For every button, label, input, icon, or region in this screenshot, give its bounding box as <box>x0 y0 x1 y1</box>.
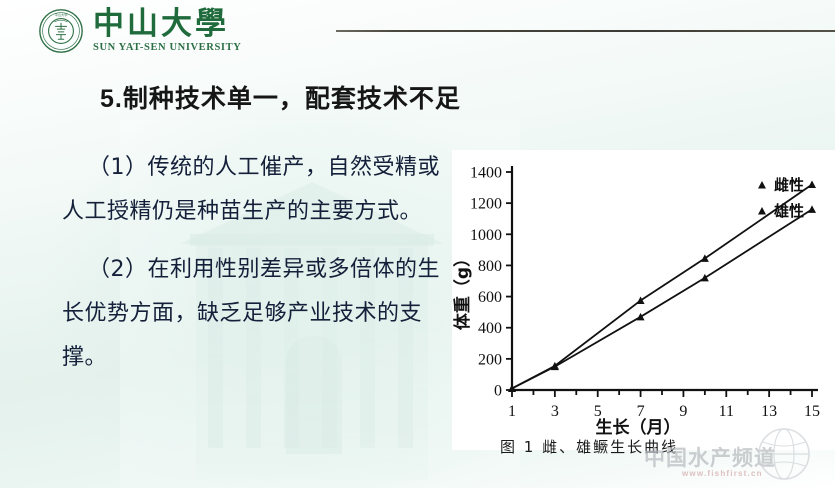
y-tick-label: 1000 <box>470 227 502 244</box>
logo-english-name: SUN YAT-SEN UNIVERSITY <box>93 43 241 54</box>
x-tick-label: 1 <box>508 403 516 420</box>
university-seal-icon: 中山大學 <box>38 8 84 54</box>
page-title: 5.制种技术单一，配套技术不足 <box>100 79 461 115</box>
x-axis-label: 生长（月） <box>596 417 681 438</box>
y-tick-label: 200 <box>478 351 502 368</box>
x-tick-label: 3 <box>551 403 559 420</box>
y-tick-label: 600 <box>478 289 502 306</box>
paragraph-1: （1）传统的人工催产，自然受精或人工授精仍是种苗生产的主要方式。 <box>62 146 452 234</box>
y-tick-label: 0 <box>494 383 502 400</box>
header-divider-rule <box>336 30 835 32</box>
x-tick-label: 11 <box>719 403 734 420</box>
watermark-url: www.fishfirst.cn <box>682 469 763 478</box>
chart-svg: 020040060080010001200140013579111315 雌性 … <box>452 150 835 450</box>
svg-text:中山大學: 中山大學 <box>55 12 69 17</box>
y-tick-label: 1200 <box>470 196 502 213</box>
y-axis-label: 体重（g） <box>452 250 473 330</box>
slide-header: 中山大學 中山大學 SUN YAT-SEN UNIVERSITY <box>0 0 835 62</box>
title-number: 5. <box>100 85 123 113</box>
y-tick-label: 400 <box>478 320 502 337</box>
paragraph-2: （2）在利用性别差异或多倍体的生长优势方面，缺乏足够产业技术的支撑。 <box>62 248 452 380</box>
body-text-block: （1）传统的人工催产，自然受精或人工授精仍是种苗生产的主要方式。 （2）在利用性… <box>62 146 452 394</box>
logo-chinese-name: 中山大學 <box>93 9 241 40</box>
x-tick-label: 9 <box>679 403 687 420</box>
x-tick-label: 13 <box>761 403 777 420</box>
university-logo: 中山大學 中山大學 SUN YAT-SEN UNIVERSITY <box>38 8 241 54</box>
x-tick-label: 15 <box>804 403 820 420</box>
legend-label-male: 雄性 <box>773 202 804 220</box>
title-text: 制种技术单一，配套技术不足 <box>123 84 461 113</box>
slide-canvas: 中山大學 中山大學 SUN YAT-SEN UNIVERSITY 5.制种技术单… <box>0 0 835 488</box>
growth-curve-chart: 020040060080010001200140013579111315 雌性 … <box>452 150 835 450</box>
y-tick-label: 1400 <box>470 165 502 182</box>
figure-caption: 图 1 雌、雄鳜生长曲线 <box>500 436 678 457</box>
y-tick-label: 800 <box>478 258 502 275</box>
legend-label-female: 雌性 <box>774 176 804 194</box>
